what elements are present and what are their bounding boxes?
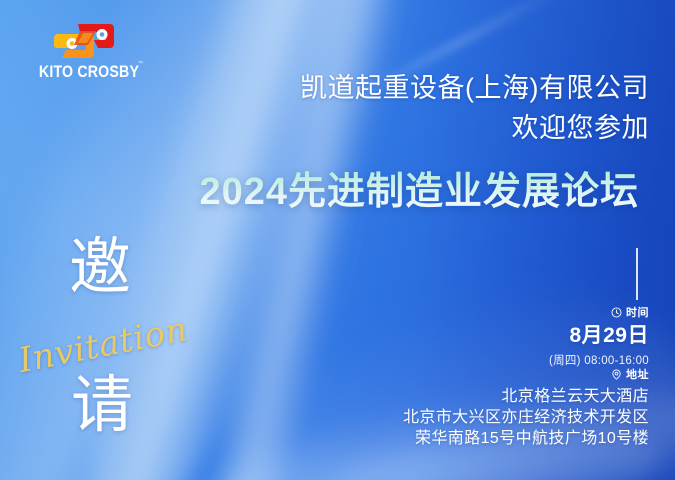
- event-time-header: 时间: [289, 304, 649, 320]
- headline-welcome-line: 欢迎您参加: [229, 108, 649, 148]
- section-divider: [636, 248, 638, 300]
- invitation-char-qing: 请: [71, 375, 133, 437]
- clock-icon: [611, 307, 622, 318]
- brand-wordmark: KITO CROSBY ™: [33, 63, 145, 82]
- invitation-lettering: 邀 请 Invitation: [55, 235, 205, 465]
- headline: 凯道起重设备(上海)有限公司 欢迎您参加: [229, 68, 649, 148]
- invitation-poster: KITO CROSBY ™ 凯道起重设备(上海)有限公司 欢迎您参加 2024先…: [0, 0, 675, 480]
- event-address-label: 地址: [626, 366, 649, 382]
- brand-wordmark-text: KITO CROSBY: [39, 63, 139, 81]
- event-date: 8月29日: [289, 324, 649, 348]
- trademark-symbol: ™: [138, 61, 143, 67]
- brand-logo: KITO CROSBY ™: [24, 22, 154, 82]
- invitation-script-text: Invitation: [15, 301, 234, 381]
- event-address-line-2: 北京市大兴区亦庄经济技术开发区: [229, 407, 649, 428]
- event-address-line-1: 北京格兰云天大酒店: [229, 386, 649, 407]
- event-address-line-3: 荣华南路15号中航技广场10号楼: [229, 428, 649, 449]
- event-time-label: 时间: [626, 304, 649, 320]
- headline-company-line: 凯道起重设备(上海)有限公司: [229, 68, 649, 108]
- forum-title: 2024先进制造业发展论坛: [0, 160, 639, 215]
- location-pin-icon: [611, 369, 622, 380]
- chain-link-logo-icon: [50, 22, 128, 58]
- invitation-char-yao: 邀: [69, 237, 131, 299]
- event-address-block: 地址 北京格兰云天大酒店 北京市大兴区亦庄经济技术开发区 荣华南路15号中航技广…: [229, 366, 649, 449]
- event-time-block: 时间 8月29日 (周四) 08:00-16:00: [289, 304, 649, 368]
- event-address-header: 地址: [229, 366, 649, 382]
